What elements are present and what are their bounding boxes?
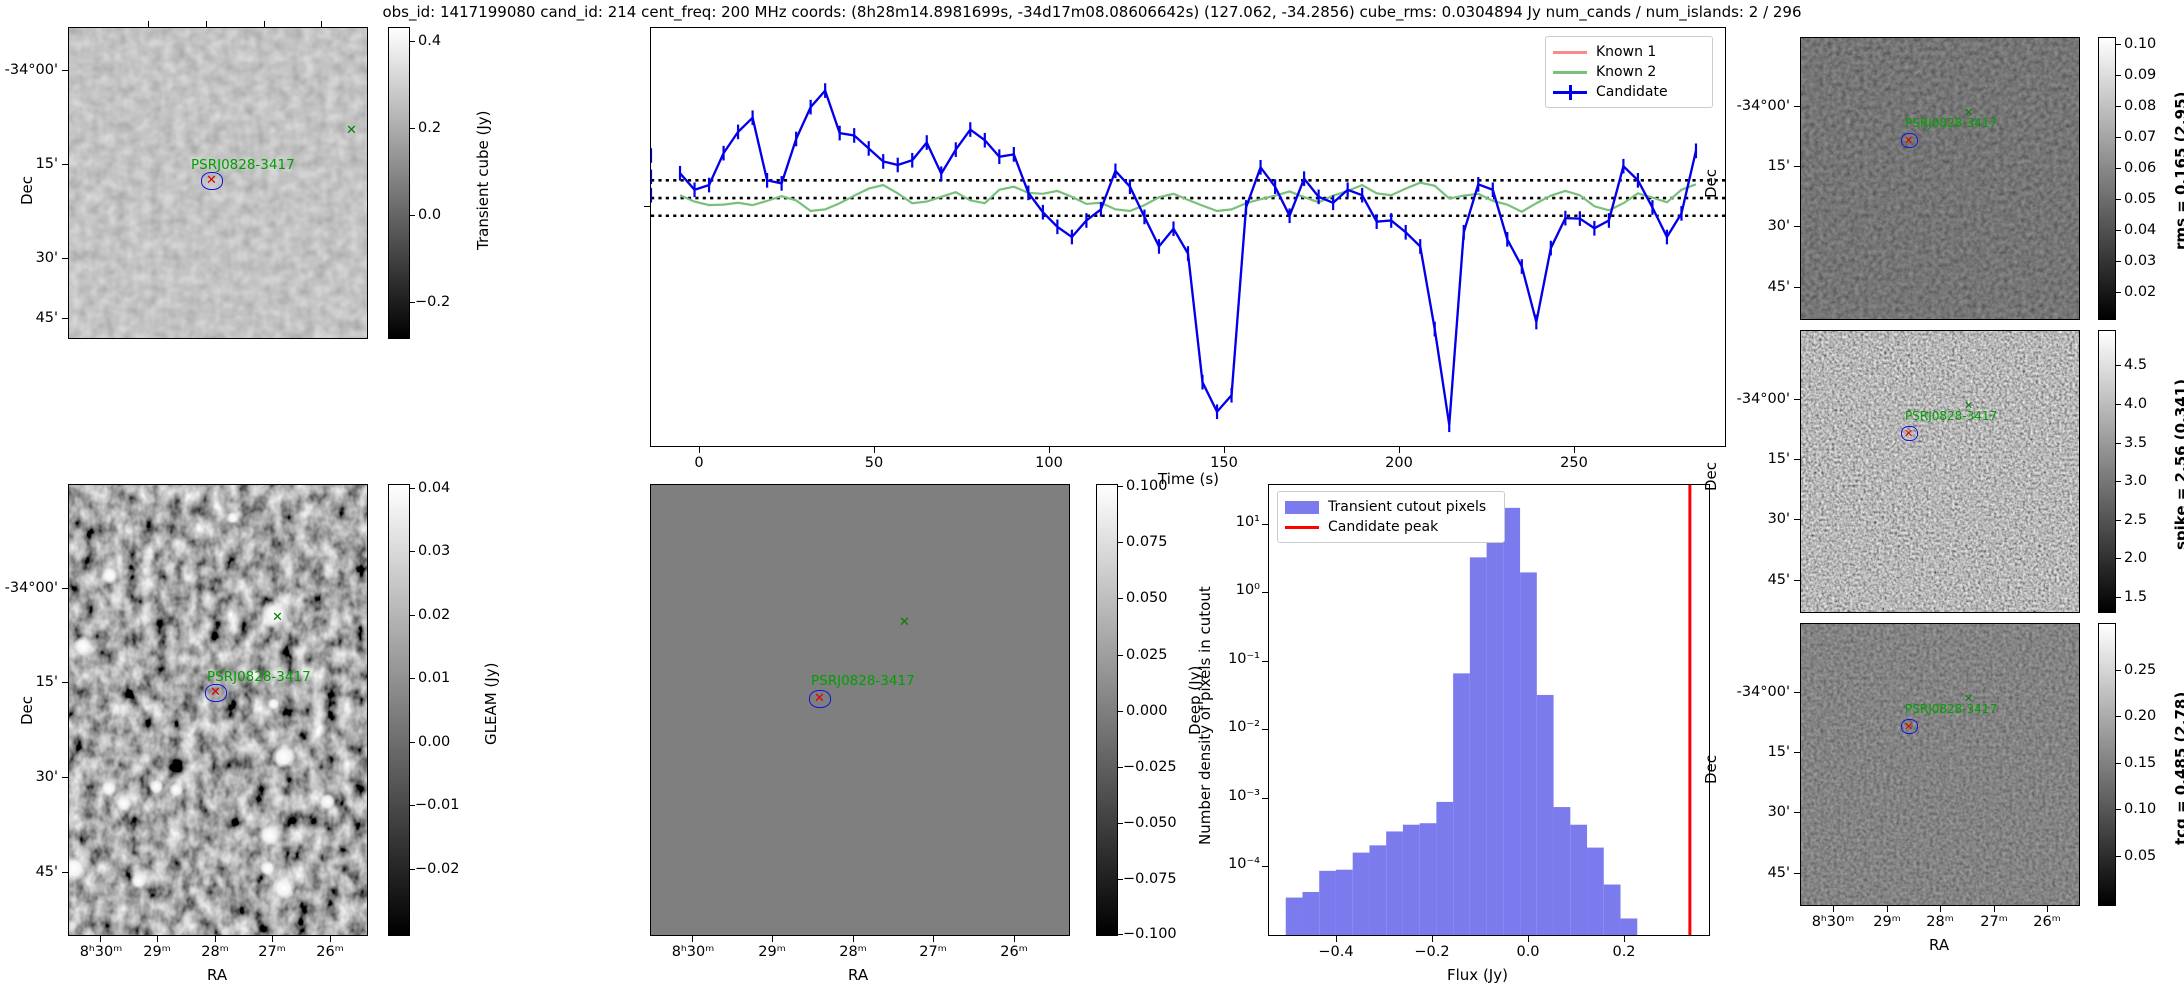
cbar-tick-label: −0.01	[415, 797, 459, 813]
colorbar-rms-label: rms = 0.165 (2.95)	[2172, 92, 2184, 250]
colorbar-tcg[interactable]	[2098, 623, 2116, 906]
ytick-label: 10⁻²	[1208, 719, 1260, 735]
legend-swatch-cutout-pixels	[1285, 500, 1319, 514]
candidate-peak-x-icon: ✕	[814, 692, 825, 705]
panel-deep-image[interactable]: PSRJ0828-3417 ✕ ✕	[650, 484, 1070, 936]
xtick-label: 150	[1194, 455, 1254, 471]
source-label-psr: PSRJ0828-3417	[1905, 409, 1997, 423]
ytick-label: 45'	[0, 864, 58, 880]
legend-item-known2[interactable]: Known 2	[1553, 62, 1704, 82]
panel-transient-cube-ylabel: Dec	[18, 176, 36, 205]
cbar-tick-label: −0.075	[1123, 871, 1177, 887]
legend-swatch-candidate	[1553, 85, 1587, 99]
cbar-tick-label: 0.01	[418, 670, 450, 686]
xtick-label: 250	[1544, 455, 1604, 471]
cbar-tick-label: 0.04	[2124, 222, 2156, 238]
ytick-label: 30'	[1716, 511, 1790, 527]
cbar-tick-label: −0.2	[415, 294, 450, 310]
panel-deep-xlabel: RA	[848, 966, 868, 984]
xtick-label: 28ᵐ	[823, 944, 883, 960]
ytick-label: -34°00'	[1716, 391, 1790, 407]
ytick-label: 10⁻¹	[1208, 651, 1260, 667]
xtick-label: 200	[1369, 455, 1429, 471]
panel-tcg-ylabel: Dec	[1702, 755, 1720, 784]
cbar-tick-label: 0.05	[2124, 848, 2156, 864]
candidate-peak-x-icon: ✕	[1904, 135, 1913, 146]
cbar-tick-label: 0.00	[418, 734, 450, 750]
xtick-label: 27ᵐ	[1966, 914, 2022, 930]
ytick-label: 15'	[1716, 451, 1790, 467]
cbar-tick-label: −0.025	[1123, 759, 1177, 775]
tcg-noise-map	[1801, 624, 2079, 905]
ytick-label: 15'	[0, 674, 58, 690]
xtick-label: 29ᵐ	[742, 944, 802, 960]
histogram-plot-area	[1269, 485, 1709, 935]
colorbar-deep[interactable]	[1096, 484, 1118, 936]
source-label-psr: PSRJ0828-3417	[207, 669, 311, 685]
xtick-label: 26ᵐ	[984, 944, 1044, 960]
cbar-tick-label: 3.5	[2124, 435, 2147, 451]
cbar-tick-label: 0.25	[2124, 662, 2156, 678]
ytick-label: 30'	[1716, 804, 1790, 820]
known-source-x-icon: ✕	[346, 124, 357, 137]
cbar-tick-label: 0.05	[2124, 191, 2156, 207]
panel-spike-image[interactable]: PSRJ0828-3417 ✕ ✕	[1800, 330, 2080, 613]
panel-rms-ylabel: Dec	[1702, 169, 1720, 198]
colorbar-tcg-label: tcg = 0.485 (2.78)	[2172, 692, 2184, 845]
source-label-psr: PSRJ0828-3417	[191, 157, 295, 173]
ytick-label: 30'	[0, 769, 58, 785]
cbar-tick-label: 3.0	[2124, 473, 2147, 489]
ytick-label: -34°00'	[1716, 684, 1790, 700]
cbar-tick-label: −0.050	[1123, 815, 1177, 831]
cbar-tick-label: 0.0	[418, 207, 441, 223]
colorbar-gleam-label: GLEAM (Jy)	[482, 663, 500, 745]
ytick-label: 45'	[1716, 572, 1790, 588]
cbar-tick-label: 0.02	[2124, 284, 2156, 300]
cbar-tick-label: 4.0	[2124, 396, 2147, 412]
candidate-peak-x-icon: ✕	[206, 174, 217, 187]
legend-item-candidate-peak[interactable]: Candidate peak	[1285, 517, 1496, 537]
colorbar-rms[interactable]	[2098, 37, 2116, 320]
cbar-tick-label: 2.5	[2124, 512, 2147, 528]
legend-label: Candidate	[1596, 84, 1668, 100]
known-source-x-icon: ✕	[899, 616, 910, 629]
colorbar-spike[interactable]	[2098, 330, 2116, 613]
ytick-label: 10¹	[1208, 514, 1260, 530]
ytick-label: -34°00'	[1716, 98, 1790, 114]
xtick-label: 26ᵐ	[2019, 914, 2075, 930]
cbar-tick-label: 0.15	[2124, 755, 2156, 771]
candidate-peak-x-icon: ✕	[1904, 428, 1913, 439]
ytick-label: 30'	[0, 250, 58, 266]
cbar-tick-label: 0.06	[2124, 160, 2156, 176]
cbar-tick-label: 0.03	[2124, 253, 2156, 269]
spike-noise-map	[1801, 331, 2079, 612]
cbar-tick-label: 0.2	[418, 120, 441, 136]
legend-swatch-known2	[1553, 65, 1587, 79]
panel-tcg-xlabel: RA	[1929, 936, 1949, 954]
cbar-tick-label: 0.10	[2124, 801, 2156, 817]
cbar-tick-label: 0.4	[418, 33, 441, 49]
panel-rms-image[interactable]: PSRJ0828-3417 ✕ ✕	[1800, 37, 2080, 320]
ytick-label: 15'	[1716, 158, 1790, 174]
xtick-label: 100	[1019, 455, 1079, 471]
xtick-label: −0.2	[1402, 944, 1462, 960]
xtick-label: 0.2	[1594, 944, 1654, 960]
ytick-label: 10⁻³	[1208, 788, 1260, 804]
source-label-psr: PSRJ0828-3417	[1905, 702, 1997, 716]
source-label-psr: PSRJ0828-3417	[811, 673, 915, 689]
legend-swatch-candidate-peak	[1285, 520, 1319, 534]
cbar-tick-label: 0.100	[1126, 478, 1168, 494]
panel-spike-ylabel: Dec	[1702, 462, 1720, 491]
histogram-legend[interactable]: Transient cutout pixels Candidate peak	[1277, 491, 1505, 543]
known-source-x-icon: ✕	[272, 611, 283, 624]
xtick-label: 8ʰ30ᵐ	[1799, 914, 1867, 930]
cbar-tick-label: 0.025	[1126, 647, 1168, 663]
xtick-label: 29ᵐ	[127, 944, 187, 960]
cbar-tick-label: 0.02	[418, 607, 450, 623]
legend-label: Transient cutout pixels	[1328, 499, 1486, 515]
cbar-tick-label: 0.04	[418, 480, 450, 496]
xtick-label: 28ᵐ	[1912, 914, 1968, 930]
candidate-peak-x-icon: ✕	[210, 686, 221, 699]
ytick-label: 10⁻⁴	[1208, 856, 1260, 872]
known-source-x-icon: ✕	[1964, 107, 1973, 118]
lightcurve-ytick	[644, 206, 650, 207]
panel-transient-cube-image[interactable]: PSRJ0828-3417 ✕ ✕	[68, 27, 368, 339]
colorbar-spike-label: spike = 2.56 (0.341)	[2172, 379, 2184, 550]
xtick-label: 27ᵐ	[903, 944, 963, 960]
ytick-label: 10⁰	[1208, 582, 1260, 598]
cbar-tick-label: 0.075	[1126, 534, 1168, 550]
known-source-x-icon: ✕	[1964, 400, 1973, 411]
xtick-label: 0.0	[1498, 944, 1558, 960]
cbar-tick-label: 0.10	[2124, 36, 2156, 52]
cbar-tick-label: 0.20	[2124, 708, 2156, 724]
ytick-label: 15'	[0, 156, 58, 172]
legend-label: Candidate peak	[1328, 519, 1438, 535]
legend-item-candidate[interactable]: Candidate	[1553, 82, 1704, 102]
figure-canvas: obs_id: 1417199080 cand_id: 214 cent_fre…	[0, 0, 2184, 960]
xtick-label: 29ᵐ	[1859, 914, 1915, 930]
cbar-tick-label: 4.5	[2124, 357, 2147, 373]
colorbar-transient-cube-label: Transient cube (Jy)	[474, 111, 492, 250]
cbar-tick-label: 2.0	[2124, 550, 2147, 566]
panel-histogram-ylabel: Number density of pixels in cutout	[1196, 586, 1214, 845]
ytick-label: 15'	[1716, 744, 1790, 760]
colorbar-gleam[interactable]	[388, 484, 410, 936]
cbar-tick-label: −0.02	[415, 861, 459, 877]
legend-item-cutout-pixels[interactable]: Transient cutout pixels	[1285, 497, 1496, 517]
source-label-psr: PSRJ0828-3417	[1905, 116, 1997, 130]
xtick-label: 26ᵐ	[300, 944, 360, 960]
cbar-tick-label: 0.03	[418, 543, 450, 559]
xtick-label: 50	[844, 455, 904, 471]
ytick-label: 45'	[1716, 865, 1790, 881]
figure-suptitle: obs_id: 1417199080 cand_id: 214 cent_fre…	[0, 3, 2184, 21]
ytick-label: 30'	[1716, 218, 1790, 234]
panel-histogram-xlabel: Flux (Jy)	[1447, 966, 1508, 984]
gleam-noise-map	[69, 485, 367, 935]
xtick-label: 0	[669, 455, 729, 471]
ytick-label: -34°00'	[0, 62, 58, 78]
cbar-tick-label: 0.050	[1126, 590, 1168, 606]
legend-item-known1[interactable]: Known 1	[1553, 42, 1704, 62]
xtick-label: 27ᵐ	[242, 944, 302, 960]
rms-noise-map	[1801, 38, 2079, 319]
panel-flux-histogram[interactable]	[1268, 484, 1710, 936]
panel-tcg-image[interactable]: PSRJ0828-3417 ✕ ✕	[1800, 623, 2080, 906]
cbar-tick-label: 0.09	[2124, 67, 2156, 83]
panel-gleam-ylabel: Dec	[18, 696, 36, 725]
xtick-label: 8ʰ30ᵐ	[657, 944, 729, 960]
ytick-label: -34°00'	[0, 580, 58, 596]
candidate-peak-x-icon: ✕	[1904, 721, 1913, 732]
known-source-x-icon: ✕	[1964, 693, 1973, 704]
ytick-label: 45'	[0, 310, 58, 326]
panel-gleam-image[interactable]: PSRJ0828-3417 ✕ ✕	[68, 484, 368, 936]
cbar-tick-label: 1.5	[2124, 589, 2147, 605]
cbar-tick-label: 0.07	[2124, 129, 2156, 145]
panel-gleam-xlabel: RA	[207, 966, 227, 984]
xtick-label: 28ᵐ	[185, 944, 245, 960]
cbar-tick-label: −0.100	[1123, 926, 1177, 942]
cbar-tick-label: 0.000	[1126, 703, 1168, 719]
legend-label: Known 1	[1596, 44, 1656, 60]
lightcurve-legend[interactable]: Known 1 Known 2 Candidate	[1545, 36, 1713, 108]
xtick-label: −0.4	[1306, 944, 1366, 960]
cbar-tick-label: 0.08	[2124, 98, 2156, 114]
colorbar-transient-cube[interactable]	[388, 27, 410, 339]
legend-swatch-known1	[1553, 45, 1587, 59]
ytick-label: 45'	[1716, 279, 1790, 295]
legend-label: Known 2	[1596, 64, 1656, 80]
